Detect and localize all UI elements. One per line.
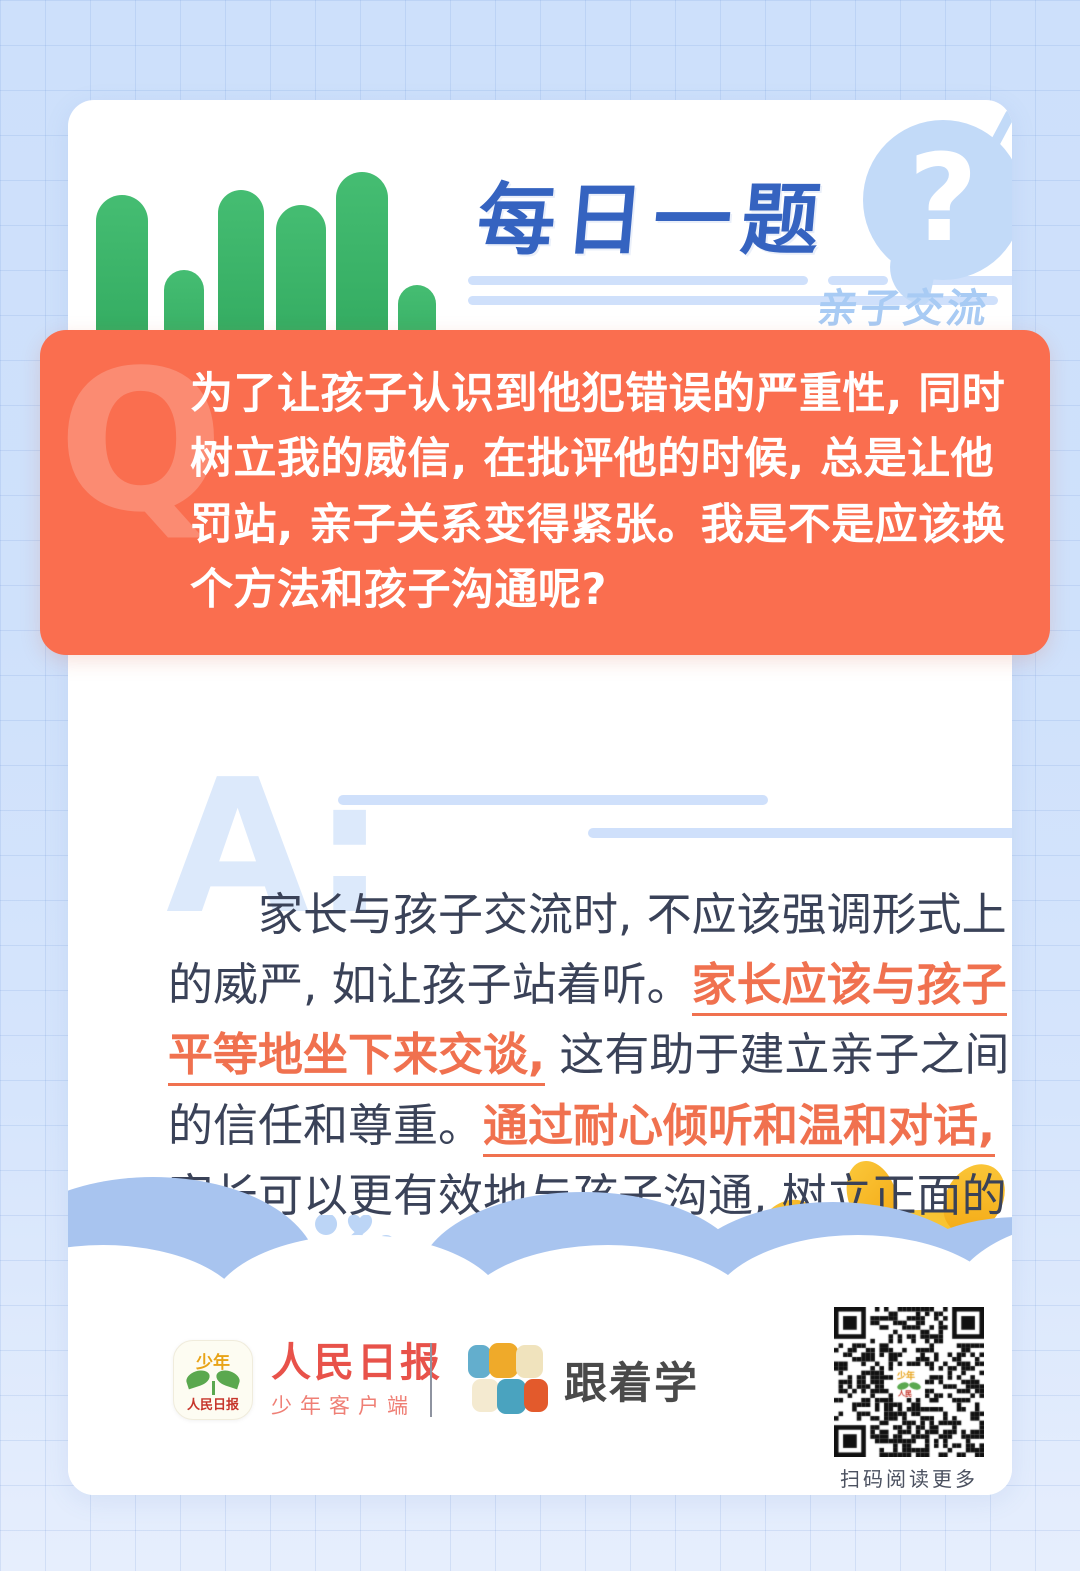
speech-bubble-icon: ? [863, 120, 1012, 280]
question-block: Q 为了让孩子认识到他犯错误的严重性, 同时树立我的威信, 在批评他的时候, 总… [40, 330, 1050, 655]
question-mark-icon: ? [863, 120, 1012, 280]
title-rule [468, 276, 808, 285]
app-icon-top-label: 少年 [174, 1348, 252, 1373]
answer-rule [338, 795, 768, 805]
page-title: 每日一题 [473, 158, 835, 270]
qr-code-icon[interactable] [834, 1307, 984, 1457]
page-subtitle: 亲子交流 [814, 276, 994, 334]
app-icon-bottom-label: 人民日报 [174, 1394, 252, 1413]
poster-card: 每日一题 ? 亲子交流 A: 家长与孩子交流时, 不应该强调形式上的威严, 如让… [68, 100, 1012, 1495]
poster-footer: 少年 人民日报 人民日报 少年客户端 [68, 1285, 1012, 1495]
answer-rule [588, 828, 1012, 838]
poster-header: 每日一题 ? 亲子交流 [68, 100, 1012, 360]
question-text: 为了让孩子认识到他犯错误的严重性, 同时树立我的威信, 在批评他的时候, 总是让… [190, 362, 1010, 623]
qr-caption: 扫码阅读更多 [824, 1463, 994, 1492]
poster-page: 每日一题 ? 亲子交流 A: 家长与孩子交流时, 不应该强调形式上的威严, 如让… [0, 0, 1080, 1571]
genzhexue-logo-icon [468, 1343, 548, 1417]
answer-plain: 家长可以更有效地与孩子沟通, 树立正面的榜样。 [168, 1169, 1007, 1292]
answer-text: 家长与孩子交流时, 不应该强调形式上的威严, 如让孩子站着听。家长应该与孩子平等… [168, 880, 1012, 1301]
stem-icon [212, 1381, 215, 1395]
brand-block[interactable]: 少年 人民日报 人民日报 少年客户端 [173, 1340, 443, 1420]
partner-name: 跟着学 [564, 1349, 699, 1411]
answer-highlight: 通过耐心倾听和温和对话, [483, 1099, 995, 1157]
qr-block[interactable]: 扫码阅读更多 [824, 1307, 994, 1492]
footer-divider [430, 1343, 432, 1417]
brand-name: 人民日报 [271, 1340, 443, 1386]
peoples-daily-app-icon: 少年 人民日报 [173, 1340, 253, 1420]
partner-block[interactable]: 跟着学 [468, 1343, 699, 1417]
brand-subtitle: 少年客户端 [271, 1390, 443, 1420]
